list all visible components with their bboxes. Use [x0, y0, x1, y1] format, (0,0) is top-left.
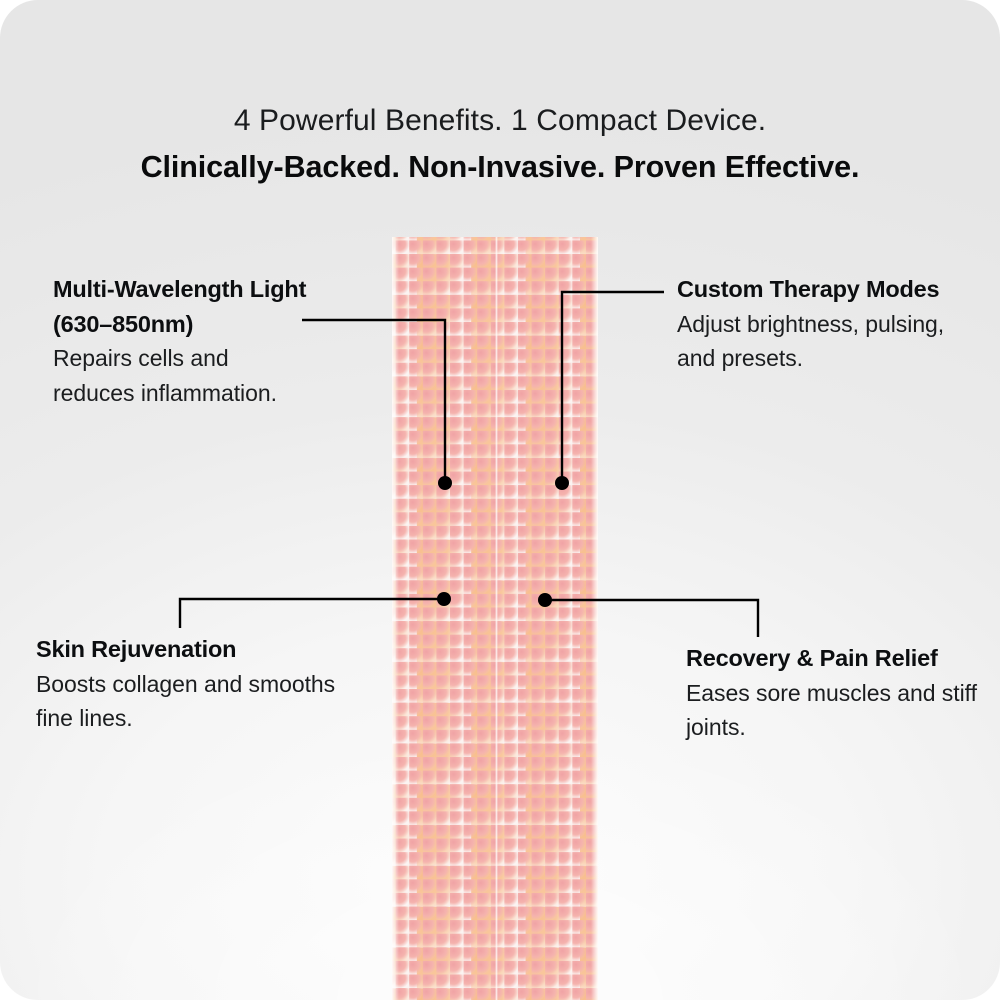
callout-title: Recovery & Pain Relief: [686, 641, 986, 676]
panel-seam: [495, 237, 498, 1000]
callout-custom-therapy-modes: Custom Therapy Modes Adjust brightness, …: [677, 272, 949, 376]
callout-title: Custom Therapy Modes: [677, 272, 949, 307]
panel-left-edge-highlight: [392, 237, 399, 1000]
headline-block: 4 Powerful Benefits. 1 Compact Device. C…: [0, 98, 1000, 190]
callout-recovery-pain-relief: Recovery & Pain Relief Eases sore muscle…: [686, 641, 986, 745]
callout-title: Skin Rejuvenation: [36, 632, 336, 667]
callout-description: Adjust brightness, pulsing, and presets.: [677, 307, 949, 376]
callout-multi-wavelength-light: Multi-Wavelength Light (630–850nm) Repai…: [53, 272, 315, 410]
callout-description: Repairs cells and reduces inflammation.: [53, 341, 315, 410]
callout-title: Multi-Wavelength Light (630–850nm): [53, 272, 315, 341]
callout-description: Boosts collagen and smooths fine lines.: [36, 667, 336, 736]
callout-description: Eases sore muscles and stiff joints.: [686, 676, 986, 745]
infographic-canvas: 4 Powerful Benefits. 1 Compact Device. C…: [0, 0, 1000, 1000]
panel-right-edge-highlight: [591, 237, 598, 1000]
headline-line-1: 4 Powerful Benefits. 1 Compact Device.: [0, 98, 1000, 144]
led-light-therapy-panel: [392, 237, 598, 1000]
callout-skin-rejuvenation: Skin Rejuvenation Boosts collagen and sm…: [36, 632, 336, 736]
headline-line-2: Clinically-Backed. Non-Invasive. Proven …: [0, 144, 1000, 190]
